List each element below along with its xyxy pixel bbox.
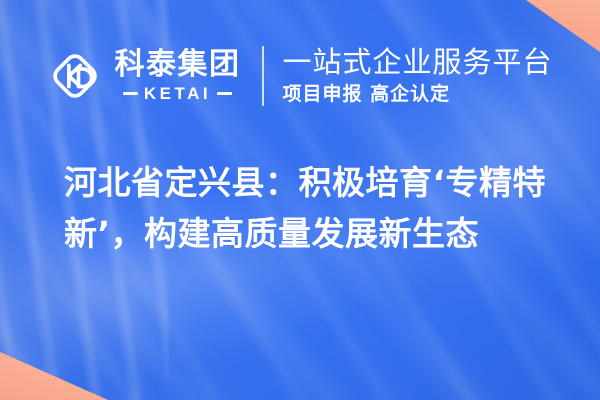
tagline-block: 一站式企业服务平台 项目申报 高企认定 (282, 47, 552, 104)
banner-header: 科泰集团 KETAI 一站式企业服务平台 项目申报 高企认定 (0, 40, 600, 112)
tagline-main: 一站式企业服务平台 (282, 47, 552, 77)
vertical-divider (262, 46, 264, 106)
left-dash-icon (123, 92, 138, 95)
right-dash-icon (217, 92, 232, 95)
brand-name-en-row: KETAI (123, 85, 232, 102)
ketai-diamond-monogram-icon (47, 48, 103, 104)
brand-logo[interactable]: 科泰集团 KETAI (47, 48, 240, 104)
brand-name-cn: 科泰集团 (114, 50, 240, 80)
tagline-sub: 项目申报 高企认定 (282, 85, 450, 105)
headline-text: 河北省定兴县：积极培育‘专精特新’，构建高质量发展新生态 (64, 158, 548, 260)
brand-wordmark: 科泰集团 KETAI (114, 50, 240, 102)
promo-banner: 科泰集团 KETAI 一站式企业服务平台 项目申报 高企认定 河北省定兴县：积极… (0, 0, 600, 400)
brand-name-en: KETAI (144, 85, 211, 102)
